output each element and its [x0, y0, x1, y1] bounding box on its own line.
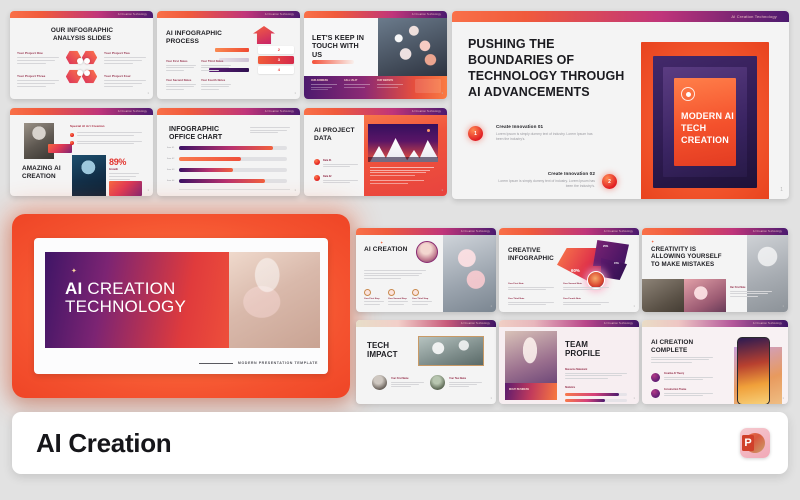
slide-topbar: AI Creation Technology	[499, 228, 639, 235]
slide-topbar: AI Creation Technology	[157, 108, 300, 115]
avatar	[430, 375, 445, 390]
slide-topbar: AI Creation Technology	[356, 228, 496, 235]
slide-tag: AI Creation Technology	[412, 11, 441, 18]
axis-line	[179, 189, 290, 190]
flowers-photo	[443, 235, 496, 312]
slide-tag: AI Creation Technology	[265, 108, 294, 115]
slide-title: TECH IMPACT	[367, 341, 411, 360]
page-number: 1	[294, 188, 296, 192]
list-item: Your Second Notes	[166, 79, 196, 90]
slide-title: PUSHING THE BOUNDARIES OF TECHNOLOGY THR…	[468, 36, 628, 100]
feature-item: Your Third Step	[412, 289, 432, 305]
slide-tag: AI Creation Technology	[265, 11, 294, 18]
hero-portrait	[229, 252, 320, 348]
impact-photo	[418, 336, 484, 366]
slide-ai-project-data[interactable]: AI Creation Technology AI PROJECT DATA D…	[304, 108, 447, 196]
list-item: Your Project One	[17, 51, 59, 64]
slide-topbar: AI Creation Technology	[10, 11, 153, 18]
feature-item: Your First Step	[364, 289, 384, 305]
slide-topbar: AI Creation Technology	[499, 320, 639, 327]
page-number: 1	[147, 91, 149, 95]
slide-topbar: AI Creation Technology	[356, 320, 496, 327]
bottom-title-bar: AI Creation	[12, 412, 788, 474]
step-number: 4	[278, 67, 280, 72]
slide-body: AI PROJECT DATA Data 01 Data 02	[304, 115, 447, 196]
list-item: Construction Theme	[651, 389, 713, 398]
slide-topbar: AI Creation Technology	[642, 320, 788, 327]
slide-tag: AI Creation Technology	[731, 11, 777, 22]
slide-tag: AI Creation Technology	[753, 320, 782, 327]
stat-label: Growth	[109, 168, 139, 171]
divider	[199, 363, 233, 364]
tile-photo: Option 01	[642, 279, 684, 312]
person-item: Your First Name	[372, 375, 424, 390]
slide-amazing-ai-creation[interactable]: AI Creation Technology AMAZING AI CREATI…	[10, 108, 153, 196]
slide-title: INFOGRAPHIC OFFICE CHART	[169, 126, 231, 143]
hexagon-infographic	[68, 49, 98, 87]
stat-value: 89%	[109, 157, 139, 167]
list-item: Your Fourth Note	[563, 298, 609, 305]
slide-body: MULTI BUSINESS TEAM PROFILE Resource Sta…	[499, 327, 639, 404]
page-number: 1	[490, 396, 492, 400]
slide-title: CREATIVE INFOGRAPHIC	[508, 247, 556, 262]
point-number: 1	[468, 126, 483, 141]
contact-panel: LET'S KEEP IN TOUCH WITH US	[304, 18, 378, 76]
page-number: 1	[633, 396, 635, 400]
list-item: Creative AI Theory	[651, 373, 713, 382]
list-item: Create Innovation 01 Lorem Ipsum is simp…	[496, 124, 601, 143]
hero-title: AI CREATION TECHNOLOGY	[65, 280, 186, 317]
slide-title: AI CREATION	[364, 246, 408, 254]
slide-body: AI INFOGRAPHIC PROCESS 2 3 4 Your First …	[157, 18, 300, 99]
astronaut-photo	[24, 123, 54, 159]
slide-topbar: AI Creation Technology	[157, 11, 300, 18]
page-number: 1	[294, 91, 296, 95]
accent-bar	[312, 60, 354, 64]
area-chart	[368, 124, 438, 162]
slide-description	[651, 357, 713, 363]
list-item: Your Third Note	[508, 298, 554, 305]
tile-photo: Option 02	[684, 279, 726, 312]
legend-item: Data 02	[314, 175, 358, 183]
page-number: 1	[782, 396, 784, 400]
slide-title: LET'S KEEP IN TOUCH WITH US	[312, 34, 370, 59]
hero-title-strong: AI	[65, 279, 82, 298]
slide-topbar: AI Creation Technology	[304, 108, 447, 115]
slide-title: OUR INFOGRAPHIC ANALYSIS SLIDES	[36, 27, 128, 42]
feature-list: Special AI Art Creation	[70, 124, 142, 145]
dot-icon	[681, 87, 695, 101]
slide-keep-in-touch[interactable]: AI Creation Technology LET'S KEEP IN TOU…	[304, 11, 447, 99]
slide-tag: AI Creation Technology	[412, 108, 441, 115]
slide-body: TECH IMPACT Your First Name Your Two Nam…	[356, 327, 496, 404]
home-icon	[253, 26, 275, 44]
slide-tag: AI Creation Technology	[753, 228, 782, 235]
slide-tag: AI Creation Technology	[604, 320, 633, 327]
page-number: 1	[441, 91, 443, 95]
process-step: 2	[215, 46, 294, 54]
page-number: 1	[441, 188, 443, 192]
page-title: AI Creation	[36, 428, 171, 459]
person-item: Your Two Name	[430, 375, 482, 390]
list-item: Your First Notes	[166, 60, 196, 71]
phone-mockup	[737, 337, 770, 404]
hero-slide-frame[interactable]: ✦ AI CREATION TECHNOLOGY MODERN PRESENTA…	[12, 214, 350, 398]
page-number: 1	[490, 304, 492, 308]
sparkle-icon: ✦	[380, 241, 383, 245]
page-number: 1	[780, 187, 783, 193]
hero-subtitle-row: MODERN PRESENTATION TEMPLATE	[199, 361, 318, 365]
page-number: 1	[782, 304, 784, 308]
phone-screen	[738, 338, 769, 404]
slide-creativity-quote[interactable]: AI Creation Technology ✦ CREATIVITY IS A…	[642, 228, 788, 312]
accent-block	[109, 181, 142, 196]
step-number: 2	[278, 47, 280, 52]
slide-body: INFOGRAPHIC OFFICE CHART Item 01 Item 02…	[157, 115, 300, 196]
avatar	[416, 241, 438, 263]
slide-tech-impact[interactable]: AI Creation Technology TECH IMPACT Your …	[356, 320, 496, 404]
step-number: 3	[278, 57, 280, 62]
sparkle-icon: ✦	[651, 240, 654, 244]
coral-photo	[378, 18, 447, 76]
slide-office-chart[interactable]: AI Creation Technology INFOGRAPHIC OFFIC…	[157, 108, 300, 196]
slide-tag: AI Creation Technology	[461, 228, 490, 235]
legend-item: Data 01	[314, 159, 358, 167]
slide-body: AI CREATION COMPLETE Creative AI Theory …	[642, 327, 788, 404]
list-item: Your Third Notes	[201, 60, 231, 71]
footer-item: CALL US AT	[344, 80, 370, 87]
person-photo: MULTI BUSINESS	[505, 331, 557, 400]
slide-creative-infographic[interactable]: AI Creation Technology CREATIVE INFOGRAP…	[499, 228, 639, 312]
slide-team-profile[interactable]: AI Creation Technology MULTI BUSINESS TE…	[499, 320, 639, 404]
list-item: Your Second Note	[563, 283, 609, 290]
point-number: 2	[602, 174, 617, 189]
slide-body: AMAZING AI CREATION Special AI Art Creat…	[10, 115, 153, 196]
list-item: Your Project Three	[17, 74, 59, 87]
slide-body: CREATIVE INFOGRAPHIC 60% 25% 15% Your Fi…	[499, 235, 639, 312]
chart-description	[370, 167, 434, 184]
slide-title: AI INFOGRAPHIC PROCESS	[166, 30, 228, 46]
slide-topbar: AI Creation Technology	[10, 108, 153, 115]
chart-note	[250, 127, 290, 133]
slide-body: ✦ AI CREATION Your First Step Your Secon…	[356, 235, 496, 312]
hero-banner: ✦ AI CREATION TECHNOLOGY	[45, 252, 320, 348]
list-item: Your Project Two	[104, 51, 146, 64]
accent-tab	[48, 144, 72, 153]
profile-description: Resource Statement	[565, 369, 627, 379]
person-photo	[747, 235, 788, 312]
slide-body: PUSHING THE BOUNDARIES OF TECHNOLOGY THR…	[452, 22, 789, 199]
slide-topbar: AI Creation Technology	[642, 228, 788, 235]
slide-title: AMAZING AI CREATION	[22, 165, 74, 180]
note-block: Our First Note	[730, 287, 772, 297]
tunnel-graphic: MODERN AI TECH CREATION	[641, 42, 769, 199]
slide-tag: AI Creation Technology	[118, 108, 147, 115]
footer-card	[415, 79, 441, 93]
slide-ai-infographic-process[interactable]: AI Creation Technology AI INFOGRAPHIC PR…	[157, 11, 300, 99]
powerpoint-icon[interactable]	[740, 428, 770, 458]
slide-tag: AI Creation Technology	[461, 320, 490, 327]
slide-body: ✦ CREATIVITY IS ALLOWING YOURSELF TO MAK…	[642, 235, 788, 312]
stat-block: 89% Growth	[109, 157, 139, 180]
slide-topbar: AI Creation Technology	[452, 11, 789, 22]
slide-title: TEAM PROFILE	[565, 340, 619, 359]
slide-title: AI CREATION COMPLETE	[651, 339, 709, 354]
powerpoint-glyph	[745, 433, 765, 453]
sparkle-icon: ✦	[71, 268, 77, 275]
slide-tag: AI Creation Technology	[118, 11, 147, 18]
list-item: Create Innovation 02 Lorem Ipsum is simp…	[490, 171, 595, 190]
feature-item: Your Second Step	[388, 289, 408, 305]
skills-heading: Statistics	[565, 387, 575, 389]
slide-topbar: AI Creation Technology	[304, 11, 447, 18]
slide-ai-creation-complete[interactable]: AI Creation Technology AI CREATION COMPL…	[642, 320, 788, 404]
list-item: Your Fourth Notes	[201, 79, 231, 90]
slide-description	[364, 270, 426, 279]
list-item: Your Project Four	[104, 74, 146, 87]
page-number: 1	[147, 188, 149, 192]
slide-pushing-boundaries[interactable]: AI Creation Technology PUSHING THE BOUND…	[452, 11, 789, 199]
contact-footer: OUR ADDRESS CALL US AT OUR WEBSITE	[304, 76, 447, 99]
page-number: 1	[633, 304, 635, 308]
slide-body: OUR INFOGRAPHIC ANALYSIS SLIDES Your Pro…	[10, 18, 153, 99]
footer-item: OUR WEBSITE	[377, 80, 403, 87]
slide-body: LET'S KEEP IN TOUCH WITH US OUR ADDRESS …	[304, 18, 447, 99]
hero-title-rest: CREATION	[87, 279, 175, 298]
list-item: Your First Note	[508, 283, 554, 290]
person-photo	[72, 155, 106, 196]
hero-slide[interactable]: ✦ AI CREATION TECHNOLOGY MODERN PRESENTA…	[34, 238, 328, 374]
avatar	[372, 375, 387, 390]
slide-infographic-analysis[interactable]: AI Creation Technology OUR INFOGRAPHIC A…	[10, 11, 153, 99]
pie-chart: 60% 25% 15%	[557, 240, 629, 288]
slide-ai-creation[interactable]: AI Creation Technology ✦ AI CREATION You…	[356, 228, 496, 312]
slide-title: CREATIVITY IS ALLOWING YOURSELF TO MAKE …	[651, 246, 727, 268]
footer-item: OUR ADDRESS	[311, 80, 337, 90]
slide-title: AI PROJECT DATA	[314, 127, 358, 143]
hero-title-line2: TECHNOLOGY	[65, 297, 186, 316]
slide-tag: AI Creation Technology	[604, 228, 633, 235]
presentation-preview: AI Creation Technology OUR INFOGRAPHIC A…	[0, 0, 800, 500]
hero-subtitle: MODERN PRESENTATION TEMPLATE	[238, 361, 318, 365]
panel-title: MODERN AI TECH CREATION	[681, 110, 737, 146]
photo-badge: MULTI BUSINESS	[509, 388, 529, 391]
